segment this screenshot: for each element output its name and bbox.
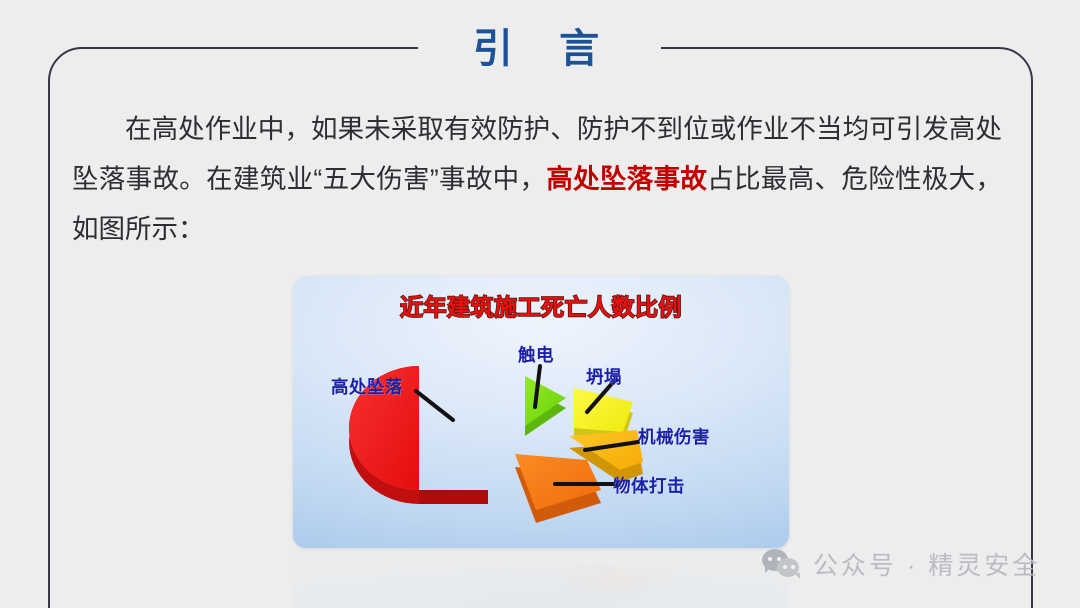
wechat-icon xyxy=(762,549,802,579)
chart-figure[interactable]: 近年建筑施工死亡人数比例 xyxy=(293,276,789,548)
highlighted-term: 高处坠落事故 xyxy=(546,164,707,194)
page-title: 引 言 xyxy=(0,24,1080,74)
intro-paragraph: 在高处作业中，如果未采取有效防护、防护不到位或作业不当均可引发高处坠落事故。在建… xyxy=(72,104,1002,254)
pie-label-wutidaji: 物体打击 xyxy=(613,473,685,498)
pie-label-chudian: 触电 xyxy=(518,342,554,367)
watermark: 公众号 · 精灵安全 xyxy=(762,546,1040,582)
pie-label-gaochuzhuiluo: 高处坠落 xyxy=(331,374,403,399)
reflection-title-text: 近年建筑施工死亡人数比例 xyxy=(469,560,613,576)
pie-label-jixieshanghai: 机械伤害 xyxy=(638,424,710,449)
chart-title: 近年建筑施工死亡人数比例 xyxy=(293,288,789,322)
chart-image: 近年建筑施工死亡人数比例 xyxy=(293,276,789,548)
watermark-text: 公众号 · 精灵安全 xyxy=(813,546,1040,582)
pie-slice-wutidaji[interactable] xyxy=(515,454,601,523)
pie-label-tanta: 坍塌 xyxy=(586,364,622,389)
pie-slice-chudian[interactable] xyxy=(525,376,566,436)
figure-reflection: 近年建筑施工死亡人数比例 xyxy=(293,552,789,608)
